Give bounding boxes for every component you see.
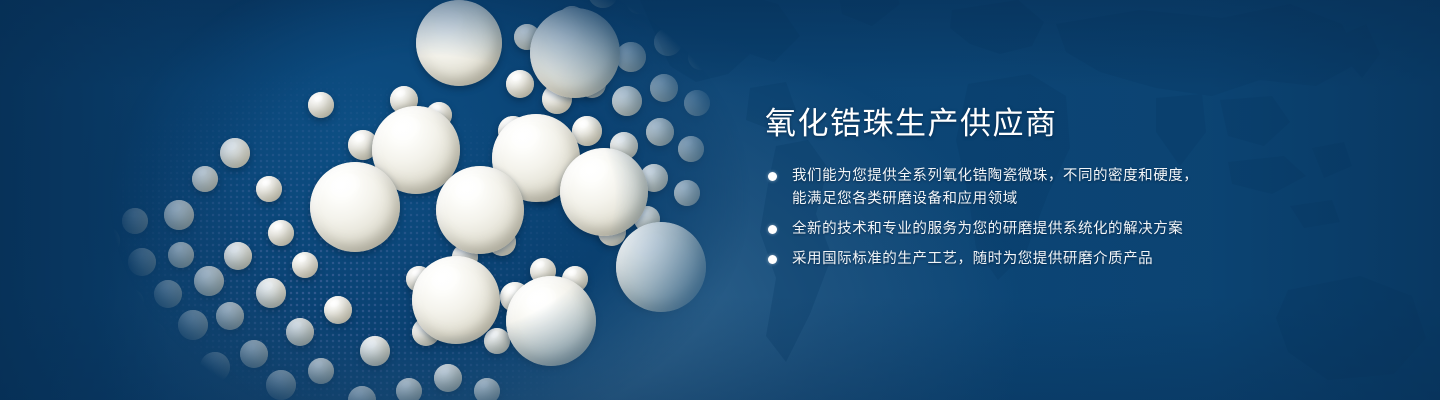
page-title: 氧化锆珠生产供应商	[765, 104, 1385, 144]
hero-banner: 氧化锆珠生产供应商 我们能为您提供全系列氧化锆陶瓷微珠，不同的密度和硬度， 能满…	[0, 0, 1440, 400]
bead-cluster	[60, 0, 760, 400]
list-item-line: 全新的技术和专业的服务为您的研磨提供系统化的解决方案	[792, 218, 1385, 241]
feature-list: 我们能为您提供全系列氧化锆陶瓷微珠，不同的密度和硬度， 能满足您各类研磨设备和应…	[765, 165, 1385, 271]
zirconia-beads-photo	[60, 0, 760, 400]
list-item-line: 采用国际标准的生产工艺，随时为您提供研磨介质产品	[792, 248, 1385, 271]
bullet-dot-icon	[768, 172, 777, 181]
list-item: 采用国际标准的生产工艺，随时为您提供研磨介质产品	[765, 248, 1385, 271]
banner-copy: 氧化锆珠生产供应商 我们能为您提供全系列氧化锆陶瓷微珠，不同的密度和硬度， 能满…	[765, 104, 1385, 271]
list-item-line: 我们能为您提供全系列氧化锆陶瓷微珠，不同的密度和硬度，	[792, 165, 1385, 188]
list-item: 全新的技术和专业的服务为您的研磨提供系统化的解决方案	[765, 218, 1385, 241]
bullet-dot-icon	[768, 225, 777, 234]
list-item-line: 能满足您各类研磨设备和应用领域	[792, 188, 1385, 211]
bullet-dot-icon	[768, 255, 777, 264]
list-item: 我们能为您提供全系列氧化锆陶瓷微珠，不同的密度和硬度， 能满足您各类研磨设备和应…	[765, 165, 1385, 211]
